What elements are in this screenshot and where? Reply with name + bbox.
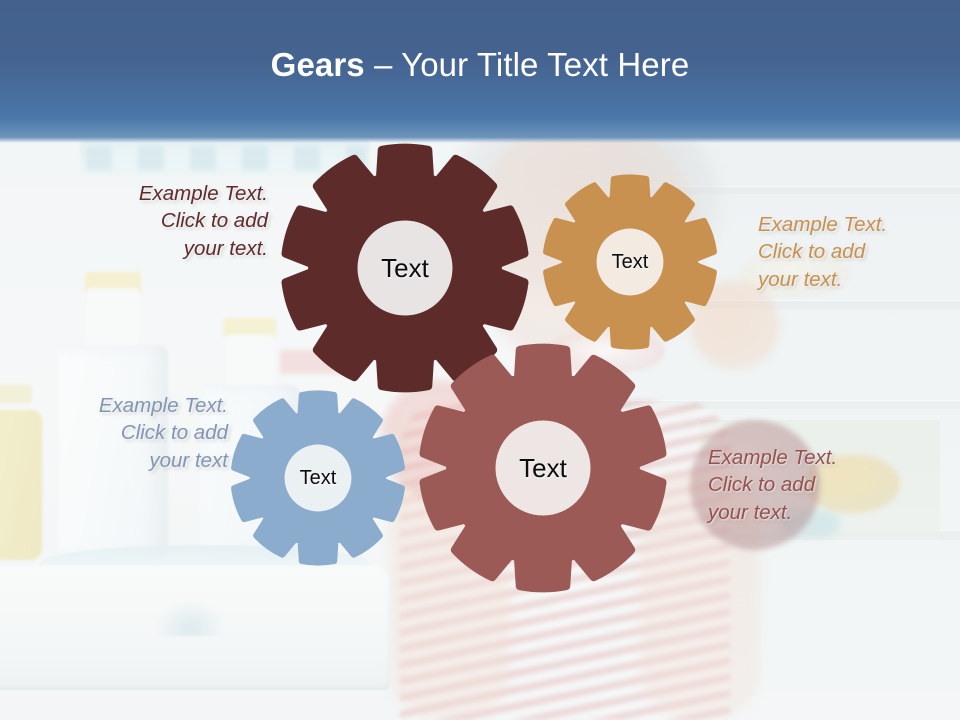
callout-top-right[interactable]: Example Text. Click to add your text. (758, 211, 948, 293)
gear-orange[interactable]: Text (542, 174, 718, 350)
title-banner: Gears – Your Title Text Here (0, 0, 960, 143)
gear-blue[interactable]: Text (230, 390, 406, 566)
gear-brick-shape (418, 343, 668, 593)
gear-orange-shape (542, 174, 718, 350)
page-title-rest: – Your Title Text Here (365, 46, 690, 83)
callout-top-left[interactable]: Example Text. Click to add your text. (88, 180, 268, 262)
gear-brick[interactable]: Text (418, 343, 668, 593)
callout-bottom-right[interactable]: Example Text. Click to add your text. (708, 444, 898, 526)
page-title: Gears – Your Title Text Here (0, 46, 960, 84)
page-title-bold: Gears (271, 46, 365, 83)
slide-canvas: Gears – Your Title Text Here Example Tex… (0, 0, 960, 720)
gear-blue-shape (230, 390, 406, 566)
callout-bottom-left[interactable]: Example Text. Click to add your text (48, 392, 228, 474)
